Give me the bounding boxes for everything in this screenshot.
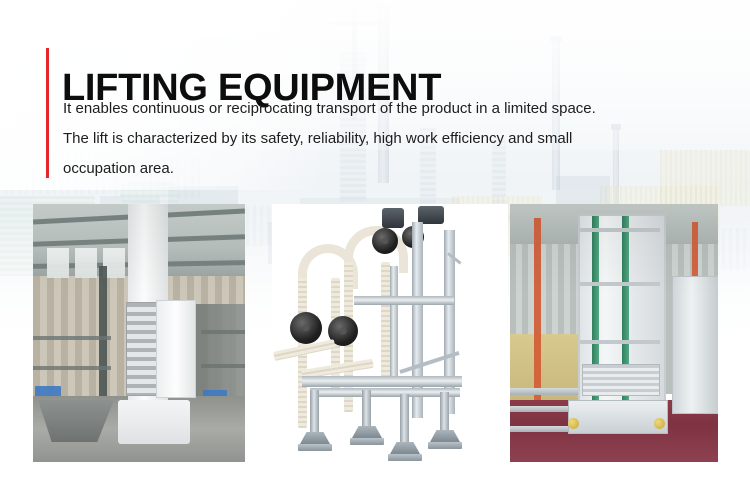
product-photo-3 xyxy=(510,204,718,462)
support-leg xyxy=(362,390,371,426)
photo-shading xyxy=(510,204,718,462)
photo-shading xyxy=(33,204,245,462)
belt-run xyxy=(381,262,390,384)
support-leg xyxy=(310,390,319,432)
drive-wheel xyxy=(290,312,322,344)
foot-plate xyxy=(350,438,384,445)
foot-plate xyxy=(428,442,462,449)
banner-description: It enables continuous or reciprocating t… xyxy=(63,94,723,184)
description-line-1: It enables continuous or reciprocating t… xyxy=(63,94,723,124)
description-line-2: The lift is characterized by its safety,… xyxy=(63,124,723,154)
support-leg xyxy=(440,392,449,430)
support-leg xyxy=(400,394,409,442)
banner-page: LIFTING EQUIPMENT It enables continuous … xyxy=(0,0,750,478)
foot-plate xyxy=(298,444,332,451)
frame-upright xyxy=(390,266,398,386)
product-photo-1 xyxy=(33,204,245,462)
description-line-3: occupation area. xyxy=(63,154,723,184)
foot-plate xyxy=(388,454,422,461)
frame-crossbar xyxy=(302,376,462,387)
frame-crossbar xyxy=(354,296,454,305)
product-photo-2 xyxy=(272,204,508,462)
gear-motor xyxy=(382,208,404,228)
red-accent-bar xyxy=(46,48,49,178)
drive-wheel xyxy=(372,228,398,254)
frame-crossbar xyxy=(310,388,460,397)
